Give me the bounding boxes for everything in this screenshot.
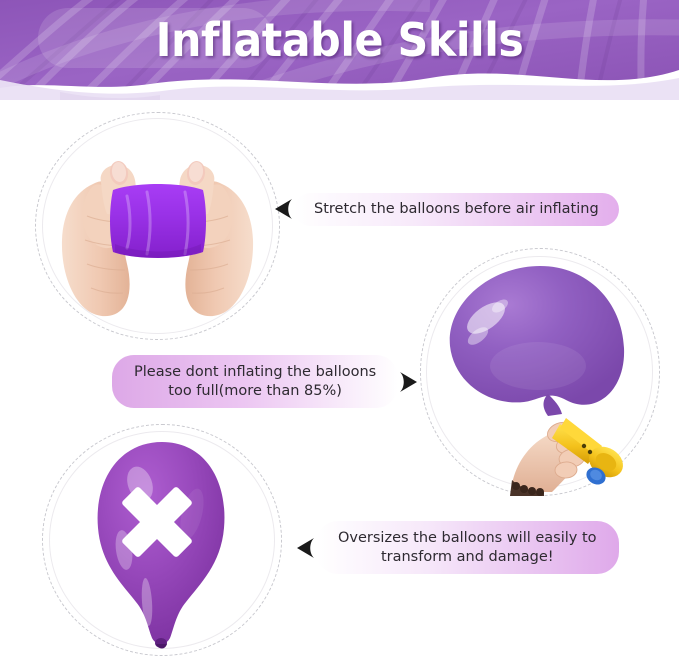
callout-stretch: Stretch the balloons before air inflatin… xyxy=(272,193,619,226)
header-banner: Inflatable Skills xyxy=(0,0,679,100)
large-inflated-balloon xyxy=(450,266,624,416)
hands-stretching-illustration xyxy=(35,112,280,340)
photo-hands-stretching-balloon xyxy=(35,112,280,340)
callout-dont-overinflate: Please dont inflating the balloons too f… xyxy=(112,355,420,408)
stretched-balloon xyxy=(110,184,206,258)
arrow-left-icon xyxy=(294,535,316,561)
arrow-left-icon xyxy=(272,196,294,222)
callout-oversize-warning: Oversizes the balloons will easily to tr… xyxy=(294,521,619,574)
photo-overinflated-balloon-x xyxy=(42,424,282,656)
photo-hand-pump-inflated-balloon xyxy=(420,248,660,496)
arrow-right-icon xyxy=(398,369,420,395)
infographic-page: Inflatable Skills xyxy=(0,0,679,667)
callout-dont-overinflate-text: Please dont inflating the balloons too f… xyxy=(112,355,398,408)
overinflated-balloon-illustration xyxy=(42,424,282,656)
page-title: Inflatable Skills xyxy=(24,0,655,88)
overinflated-balloon xyxy=(98,442,225,649)
callout-oversize-warning-text: Oversizes the balloons will easily to tr… xyxy=(316,521,619,574)
callout-stretch-text: Stretch the balloons before air inflatin… xyxy=(294,193,619,226)
inflated-balloon-illustration xyxy=(420,248,660,496)
